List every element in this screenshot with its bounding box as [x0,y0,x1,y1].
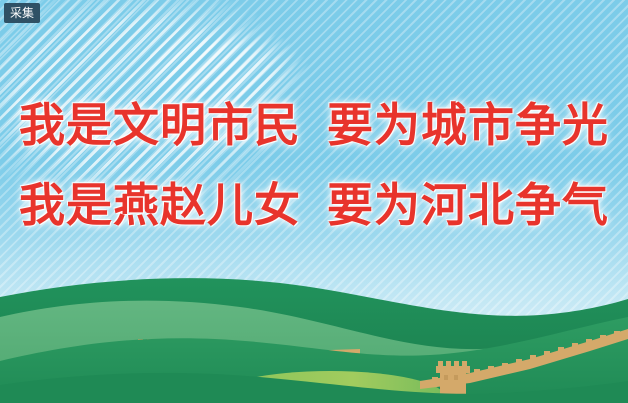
banner-screenshot: 我是文明市民要为城市争光 我是燕赵儿女要为河北争气 采集 [0,0,628,403]
rolling-green-hills [0,273,628,403]
slogan-line-1: 我是文明市民要为城市争光 [0,102,628,148]
slogan-line-1-right: 要为城市争光 [327,98,609,152]
slogan-line-1-left: 我是文明市民 [19,98,301,152]
slogan-line-2-right: 要为河北争气 [327,178,609,232]
slogan-line-2-left: 我是燕赵儿女 [19,178,301,232]
slogan-line-2: 我是燕赵儿女要为河北争气 [0,182,628,228]
capture-button[interactable]: 采集 [4,3,40,23]
